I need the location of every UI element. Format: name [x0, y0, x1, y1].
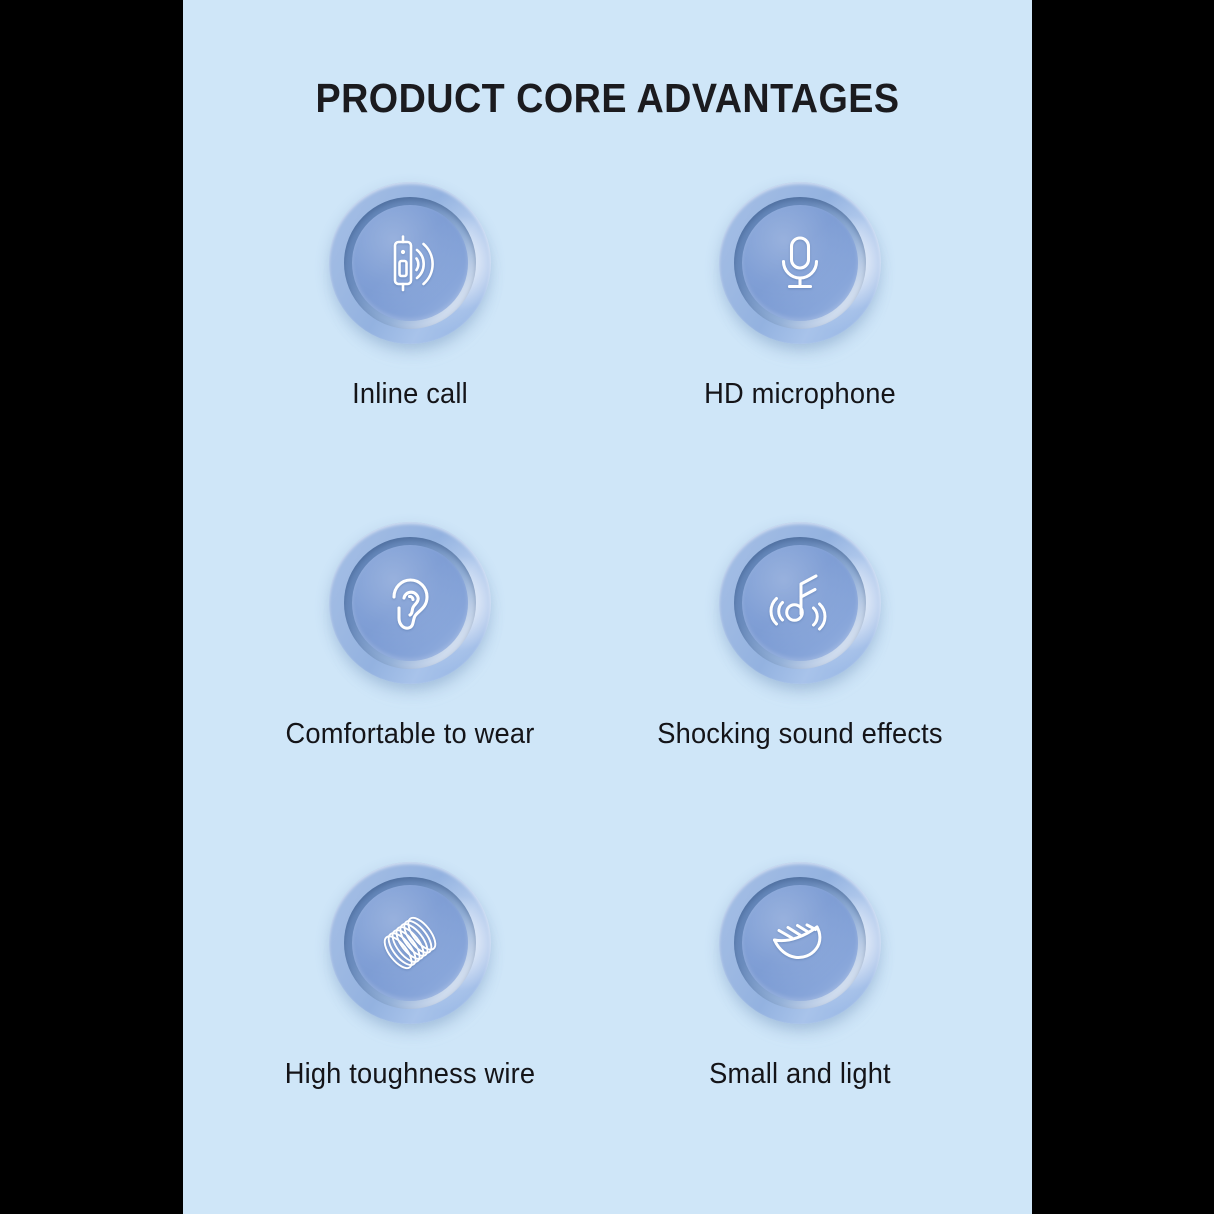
feature-item-high-toughness-wire[interactable]: High toughness wire [230, 860, 590, 1091]
poster-content-panel: PRODUCT CORE ADVANTAGES [183, 0, 1032, 1214]
badge-face [742, 545, 858, 661]
page-title: PRODUCT CORE ADVANTAGES [217, 75, 998, 122]
feature-badge [325, 860, 495, 1030]
badge-face [742, 205, 858, 321]
feature-row-1: Inline call [183, 180, 1032, 520]
feature-badge [715, 520, 885, 690]
badge-face [352, 545, 468, 661]
feature-label: Shocking sound effects [631, 718, 969, 751]
inline-remote-signal-icon [375, 228, 445, 298]
feature-label: Inline call [241, 378, 579, 411]
badge-face [352, 205, 468, 321]
feature-grid: Inline call [183, 180, 1032, 1200]
badge-face [352, 885, 468, 1001]
feature-label: HD microphone [631, 378, 969, 411]
badge-face [742, 885, 858, 1001]
microphone-icon [765, 228, 835, 298]
feature-item-small-and-light[interactable]: Small and light [620, 860, 980, 1091]
feature-badge [325, 180, 495, 350]
feature-label: Comfortable to wear [241, 718, 579, 751]
feature-item-inline-call[interactable]: Inline call [230, 180, 590, 411]
letterbox-bar-left [0, 0, 183, 1214]
feature-label: High toughness wire [241, 1058, 579, 1091]
feature-item-shocking-sound-effects[interactable]: Shocking sound effects [620, 520, 980, 751]
feature-item-hd-microphone[interactable]: HD microphone [620, 180, 980, 411]
feature-badge [325, 520, 495, 690]
ear-icon [375, 568, 445, 638]
feature-badge [715, 860, 885, 1030]
feather-leaf-icon [762, 905, 838, 981]
music-note-soundwaves-icon [763, 566, 837, 640]
feature-badge [715, 180, 885, 350]
feature-row-2: Comfortable to wear [183, 520, 1032, 860]
product-advantages-poster: PRODUCT CORE ADVANTAGES [0, 0, 1214, 1214]
coiled-wire-icon [371, 904, 449, 982]
feature-label: Small and light [631, 1058, 969, 1091]
letterbox-bar-right [1032, 0, 1214, 1214]
feature-row-3: High toughness wire [183, 860, 1032, 1200]
feature-item-comfortable-to-wear[interactable]: Comfortable to wear [230, 520, 590, 751]
